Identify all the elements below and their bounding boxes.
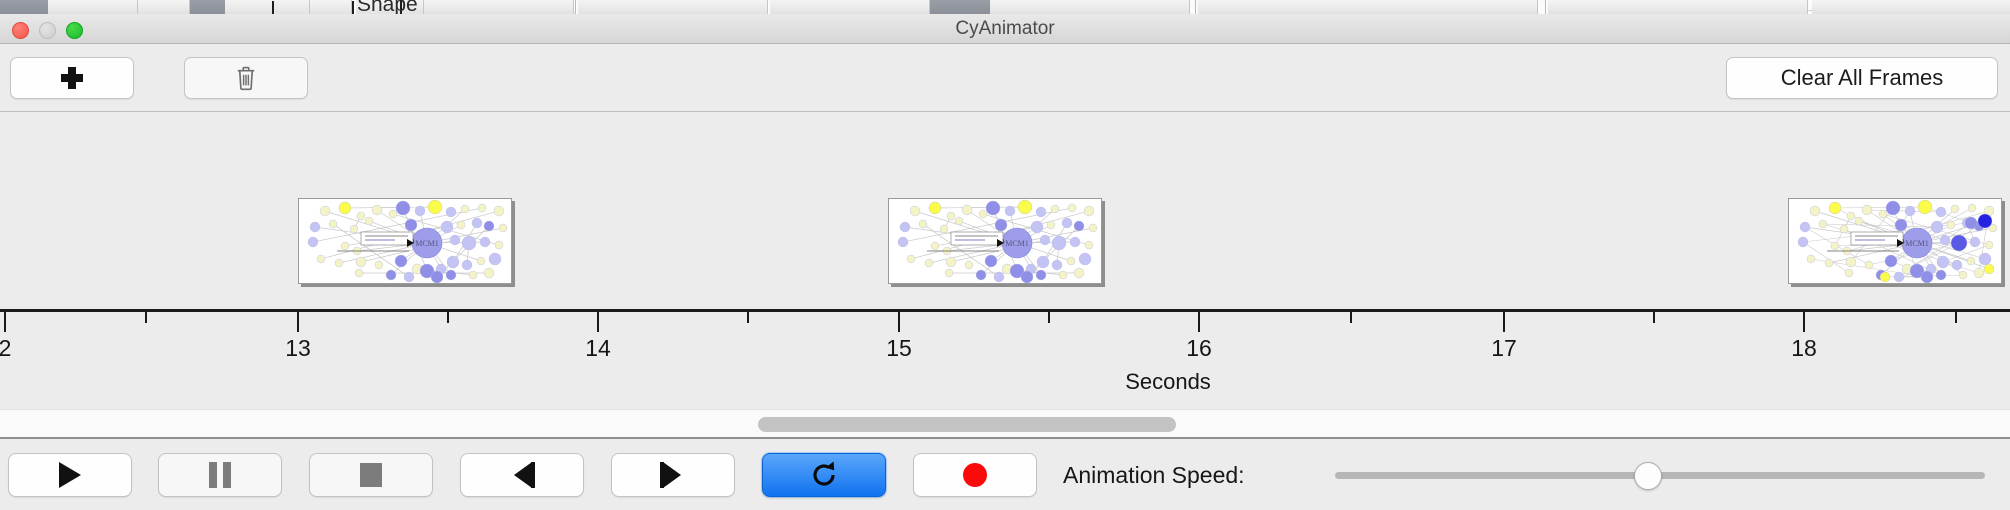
pause-button [158, 453, 282, 497]
timeline-ruler[interactable]: 2131415161718 Seconds [0, 309, 2010, 409]
ruler-tick-label: 14 [585, 335, 611, 362]
ruler-tick-major [1503, 312, 1505, 332]
ruler-tick-major [1198, 312, 1200, 332]
ruler-axis-title: Seconds [1125, 369, 1211, 395]
ruler-tick-major [1803, 312, 1805, 332]
ruler-tick-label: 16 [1186, 335, 1212, 362]
playback-control-bar: Animation Speed: [0, 441, 2010, 510]
ruler-tick-minor [447, 312, 449, 323]
timeline-panel[interactable]: MCM1 MCM1 MCM1 [0, 113, 2010, 409]
record-icon [963, 463, 987, 487]
cyanimator-window: Shape ⤍ ⤍ ⤍ CyAnimator [0, 0, 2010, 510]
ruler-tick-minor [1048, 312, 1050, 323]
ruler-baseline [0, 309, 2010, 312]
background-window-strip: Shape ⤍ ⤍ ⤍ [0, 0, 2010, 14]
frame-thumbnail-3[interactable]: MCM1 [1788, 198, 2002, 284]
ruler-tick-minor [145, 312, 147, 323]
horizontal-scrollbar-track[interactable] [0, 409, 2010, 439]
background-window-label: Shape [357, 0, 418, 14]
skip-end-icon [660, 462, 686, 488]
play-icon [59, 462, 81, 488]
clear-all-frames-button[interactable]: Clear All Frames [1726, 57, 1998, 99]
skip-to-end-button[interactable] [611, 453, 735, 497]
svg-text:MCM1: MCM1 [415, 239, 439, 248]
frame-toolbar: Clear All Frames [0, 45, 2010, 112]
stop-button [309, 453, 433, 497]
ruler-tick-label: 17 [1491, 335, 1517, 362]
ruler-tick-minor [1653, 312, 1655, 323]
ruler-tick-label: 15 [886, 335, 912, 362]
ruler-tick-major [597, 312, 599, 332]
skip-start-icon [509, 462, 535, 488]
title-bar[interactable]: CyAnimator [0, 14, 2010, 44]
stop-icon [360, 463, 382, 487]
svg-text:MCM1: MCM1 [1905, 239, 1929, 248]
ruler-tick-minor [747, 312, 749, 323]
delete-frame-button[interactable] [184, 57, 308, 99]
ruler-tick-major [4, 312, 6, 332]
ruler-tick-label: 13 [285, 335, 311, 362]
slider-thumb[interactable] [1634, 462, 1662, 490]
animation-speed-label: Animation Speed: [1063, 453, 1245, 497]
add-frame-button[interactable] [10, 57, 134, 99]
skip-to-start-button[interactable] [460, 453, 584, 497]
pause-icon [209, 462, 231, 488]
loop-button[interactable] [762, 453, 886, 497]
window-title: CyAnimator [0, 14, 2010, 44]
ruler-tick-major [898, 312, 900, 332]
horizontal-scrollbar-thumb[interactable] [758, 417, 1176, 432]
plus-icon [61, 67, 83, 89]
frame-thumbnail-2[interactable]: MCM1 [888, 198, 1102, 284]
frame-thumbnail-1[interactable]: MCM1 [298, 198, 512, 284]
ruler-tick-label: 2 [0, 335, 11, 362]
ruler-tick-label: 18 [1791, 335, 1817, 362]
ruler-tick-minor [1350, 312, 1352, 323]
svg-text:MCM1: MCM1 [1005, 239, 1029, 248]
ruler-tick-major [297, 312, 299, 332]
ruler-tick-minor [1955, 312, 1957, 323]
loop-icon [809, 460, 839, 490]
play-button[interactable] [8, 453, 132, 497]
clear-all-frames-label: Clear All Frames [1781, 65, 1944, 91]
record-button[interactable] [913, 453, 1037, 497]
trash-icon [235, 65, 257, 91]
animation-speed-slider[interactable] [1335, 453, 1985, 497]
